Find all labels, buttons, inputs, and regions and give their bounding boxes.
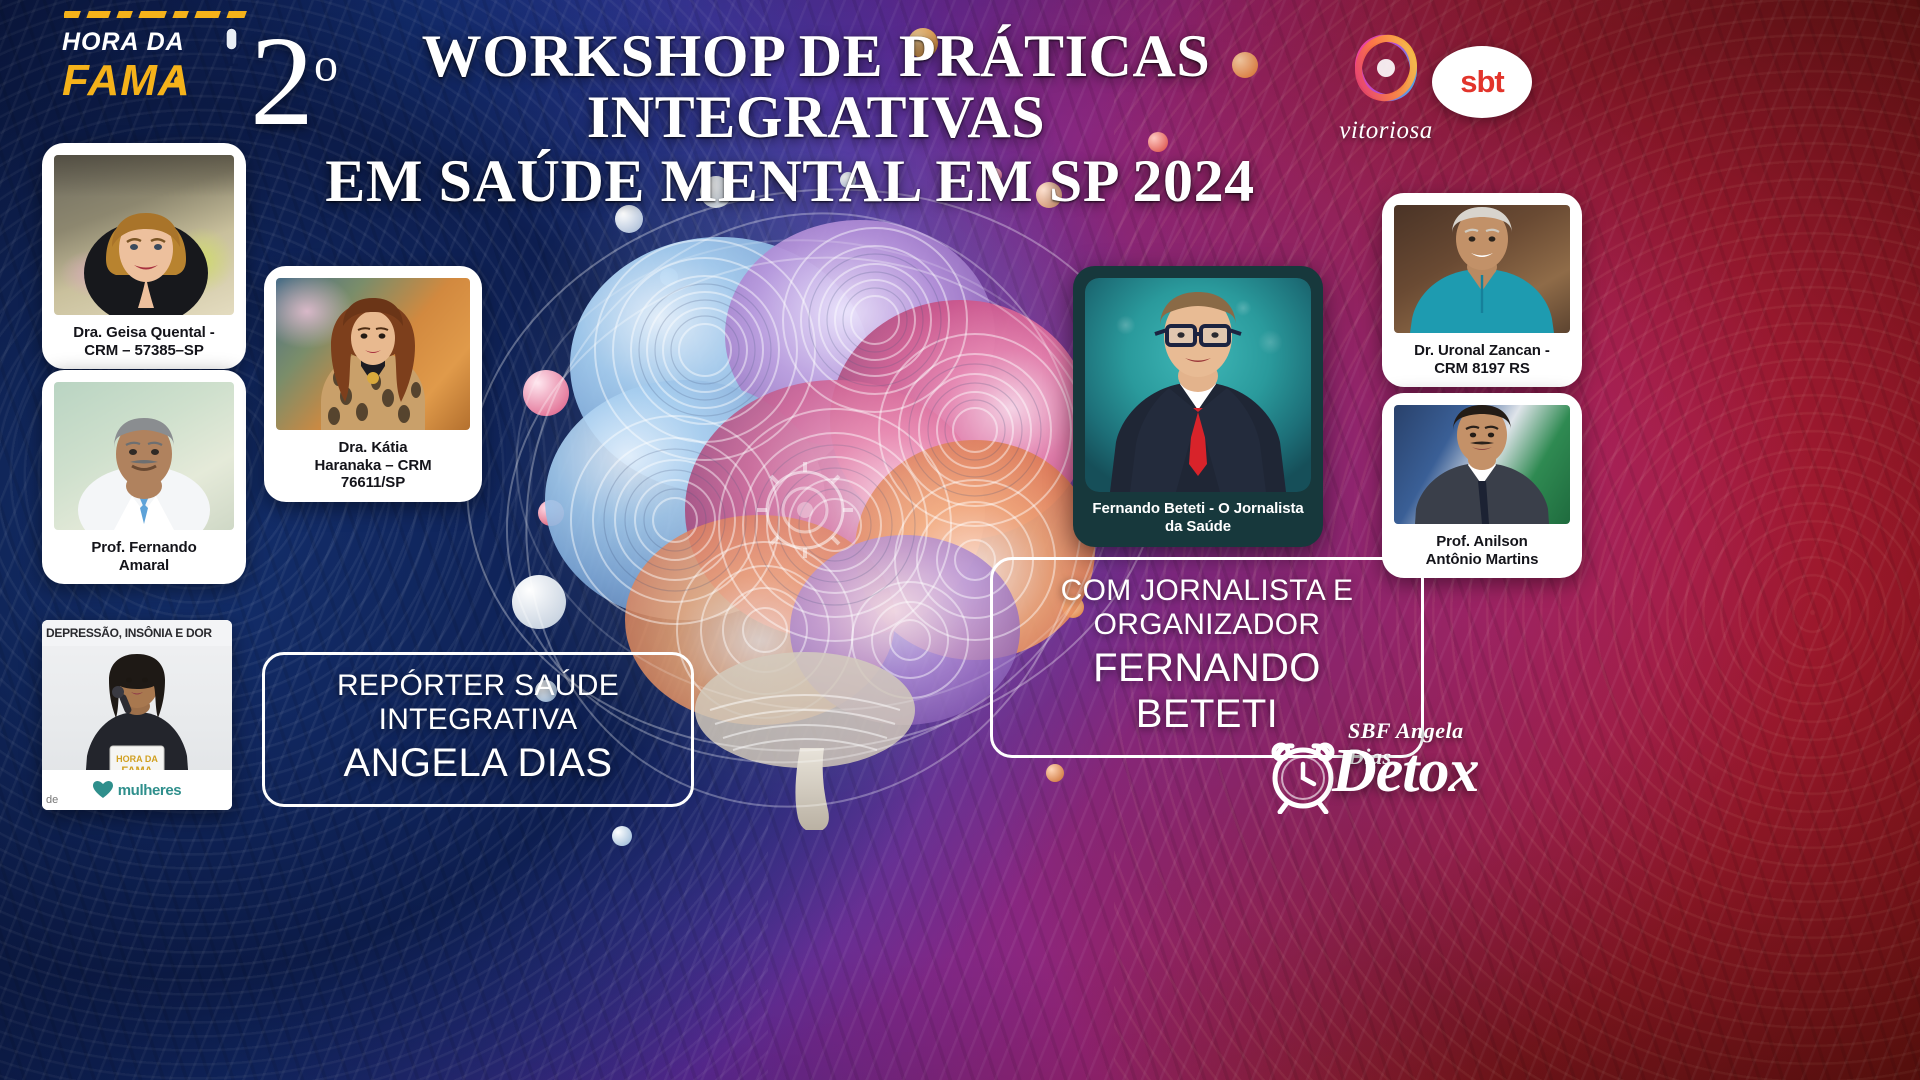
speaker-photo-amaral — [54, 382, 234, 530]
speaker-photo-katia — [276, 278, 470, 430]
speaker-name-katia: Dra. Kátia — [338, 439, 407, 456]
sbt-oval-shape: sbt — [1432, 46, 1532, 118]
portrait-figure — [276, 278, 470, 430]
title-ordinal: 2o — [250, 26, 338, 136]
callout-angela-line-1: REPÓRTER SAÚDE — [291, 669, 665, 703]
photo-footer-text: mulheres — [118, 782, 182, 799]
speaker-caption-amaral: Prof. Fernando Amaral — [91, 539, 196, 574]
speaker-credential-anilson: Antônio Martins — [1426, 551, 1539, 568]
photo-footer-strip: mulheres — [42, 770, 232, 810]
speaker-credential-amaral: Amaral — [119, 557, 169, 574]
title-line-2: EM SAÚDE MENTAL EM SP 2024 — [250, 148, 1330, 215]
callout-beteti-line-2: ORGANIZADOR — [1019, 608, 1395, 642]
speaker-card-geisa[interactable]: Dra. Geisa Quental - CRM – 57385–SP — [42, 143, 246, 369]
poster-title-block: 2o WORKSHOP DE PRÁTICAS INTEGRATIVAS EM … — [250, 26, 1330, 216]
speaker-card-beteti[interactable]: Fernando Beteti - O Jornalista da Saúde — [1073, 266, 1323, 547]
poster-canvas: 2o WORKSHOP DE PRÁTICAS INTEGRATIVAS EM … — [0, 0, 1920, 1080]
hora-da-fama-accent-dot — [174, 76, 184, 86]
microphone-icon — [218, 26, 244, 72]
photo-corner-text: de — [46, 794, 58, 806]
reporter-photo-angela: DEPRESSÃO, INSÔNIA E DOR HORA DA FAMA — [42, 620, 232, 810]
speaker-photo-geisa — [54, 155, 234, 315]
speaker-name-uronal: Dr. Uronal Zancan - — [1414, 342, 1550, 359]
speaker-credential-beteti: da Saúde — [1165, 518, 1231, 535]
speaker-caption-beteti: Fernando Beteti - O Jornalista da Saúde — [1092, 500, 1303, 535]
title-ordinal-suffix: o — [314, 38, 338, 91]
title-lines: WORKSHOP DE PRÁTICAS INTEGRATIVAS EM SAÚ… — [250, 26, 1330, 216]
hora-da-fama-top-text: HORA DA — [62, 30, 242, 55]
detox-wordmark: Detox — [1332, 740, 1479, 802]
speaker-card-katia[interactable]: Dra. Kátia Haranaka – CRM 76611/SP — [264, 266, 482, 502]
portrait-figure — [1085, 278, 1311, 492]
speaker-photo-beteti — [1085, 278, 1311, 492]
logo-speed-bars-icon — [64, 8, 254, 26]
sbt-wordmark: sbt — [1460, 64, 1504, 100]
vitoriosa-wordmark: vitoriosa — [1318, 117, 1454, 145]
portrait-figure — [1394, 205, 1570, 333]
title-ordinal-number: 2 — [250, 10, 314, 152]
speaker-name-amaral: Prof. Fernando — [91, 539, 196, 556]
speaker-caption-geisa: Dra. Geisa Quental - CRM – 57385–SP — [73, 324, 214, 359]
speaker-credential-geisa: CRM – 57385–SP — [84, 342, 204, 359]
title-line-1: WORKSHOP DE PRÁTICAS INTEGRATIVAS — [302, 26, 1330, 148]
svg-text:HORA DA: HORA DA — [116, 754, 158, 764]
hora-da-fama-bottom-text: FAMA — [62, 59, 242, 103]
speaker-card-anilson[interactable]: Prof. Anilson Antônio Martins — [1382, 393, 1582, 578]
sbf-detox-logo[interactable]: SBF Angela Dias Detox — [1262, 718, 1502, 826]
speaker-card-uronal[interactable]: Dr. Uronal Zancan - CRM 8197 RS — [1382, 193, 1582, 387]
speaker-photo-anilson — [1394, 405, 1570, 524]
speaker-name-geisa: Dra. Geisa Quental - — [73, 324, 214, 341]
portrait-figure — [1394, 405, 1570, 524]
speaker-credential-katia: Haranaka – CRM — [315, 457, 432, 474]
heart-icon — [93, 781, 113, 799]
speaker-credential-uronal: CRM 8197 RS — [1434, 360, 1530, 377]
speaker-name-beteti: Fernando Beteti - O Jornalista — [1092, 500, 1303, 517]
speaker-name-anilson: Prof. Anilson — [1436, 533, 1527, 550]
speaker-card-amaral[interactable]: Prof. Fernando Amaral — [42, 370, 246, 584]
reporter-photo-card-angela[interactable]: DEPRESSÃO, INSÔNIA E DOR HORA DA FAMA — [42, 620, 232, 810]
portrait-figure — [54, 155, 234, 315]
callout-angela-name: ANGELA DIAS — [291, 740, 665, 786]
portrait-figure — [54, 382, 234, 530]
callout-angela-line-2: INTEGRATIVA — [291, 703, 665, 737]
callout-reporter-angela[interactable]: REPÓRTER SAÚDE INTEGRATIVA ANGELA DIAS — [262, 652, 694, 807]
speaker-caption-katia: Dra. Kátia Haranaka – CRM 76611/SP — [315, 439, 432, 492]
sbt-logo[interactable]: sbt — [1432, 46, 1532, 118]
hora-da-fama-logo[interactable]: HORA DA FAMA — [62, 30, 242, 135]
speaker-credential2-katia: 76611/SP — [341, 474, 405, 491]
callout-beteti-line-1: COM JORNALISTA E — [1019, 574, 1395, 608]
speaker-caption-uronal: Dr. Uronal Zancan - CRM 8197 RS — [1414, 342, 1550, 377]
speaker-photo-uronal — [1394, 205, 1570, 333]
speaker-caption-anilson: Prof. Anilson Antônio Martins — [1426, 533, 1539, 568]
